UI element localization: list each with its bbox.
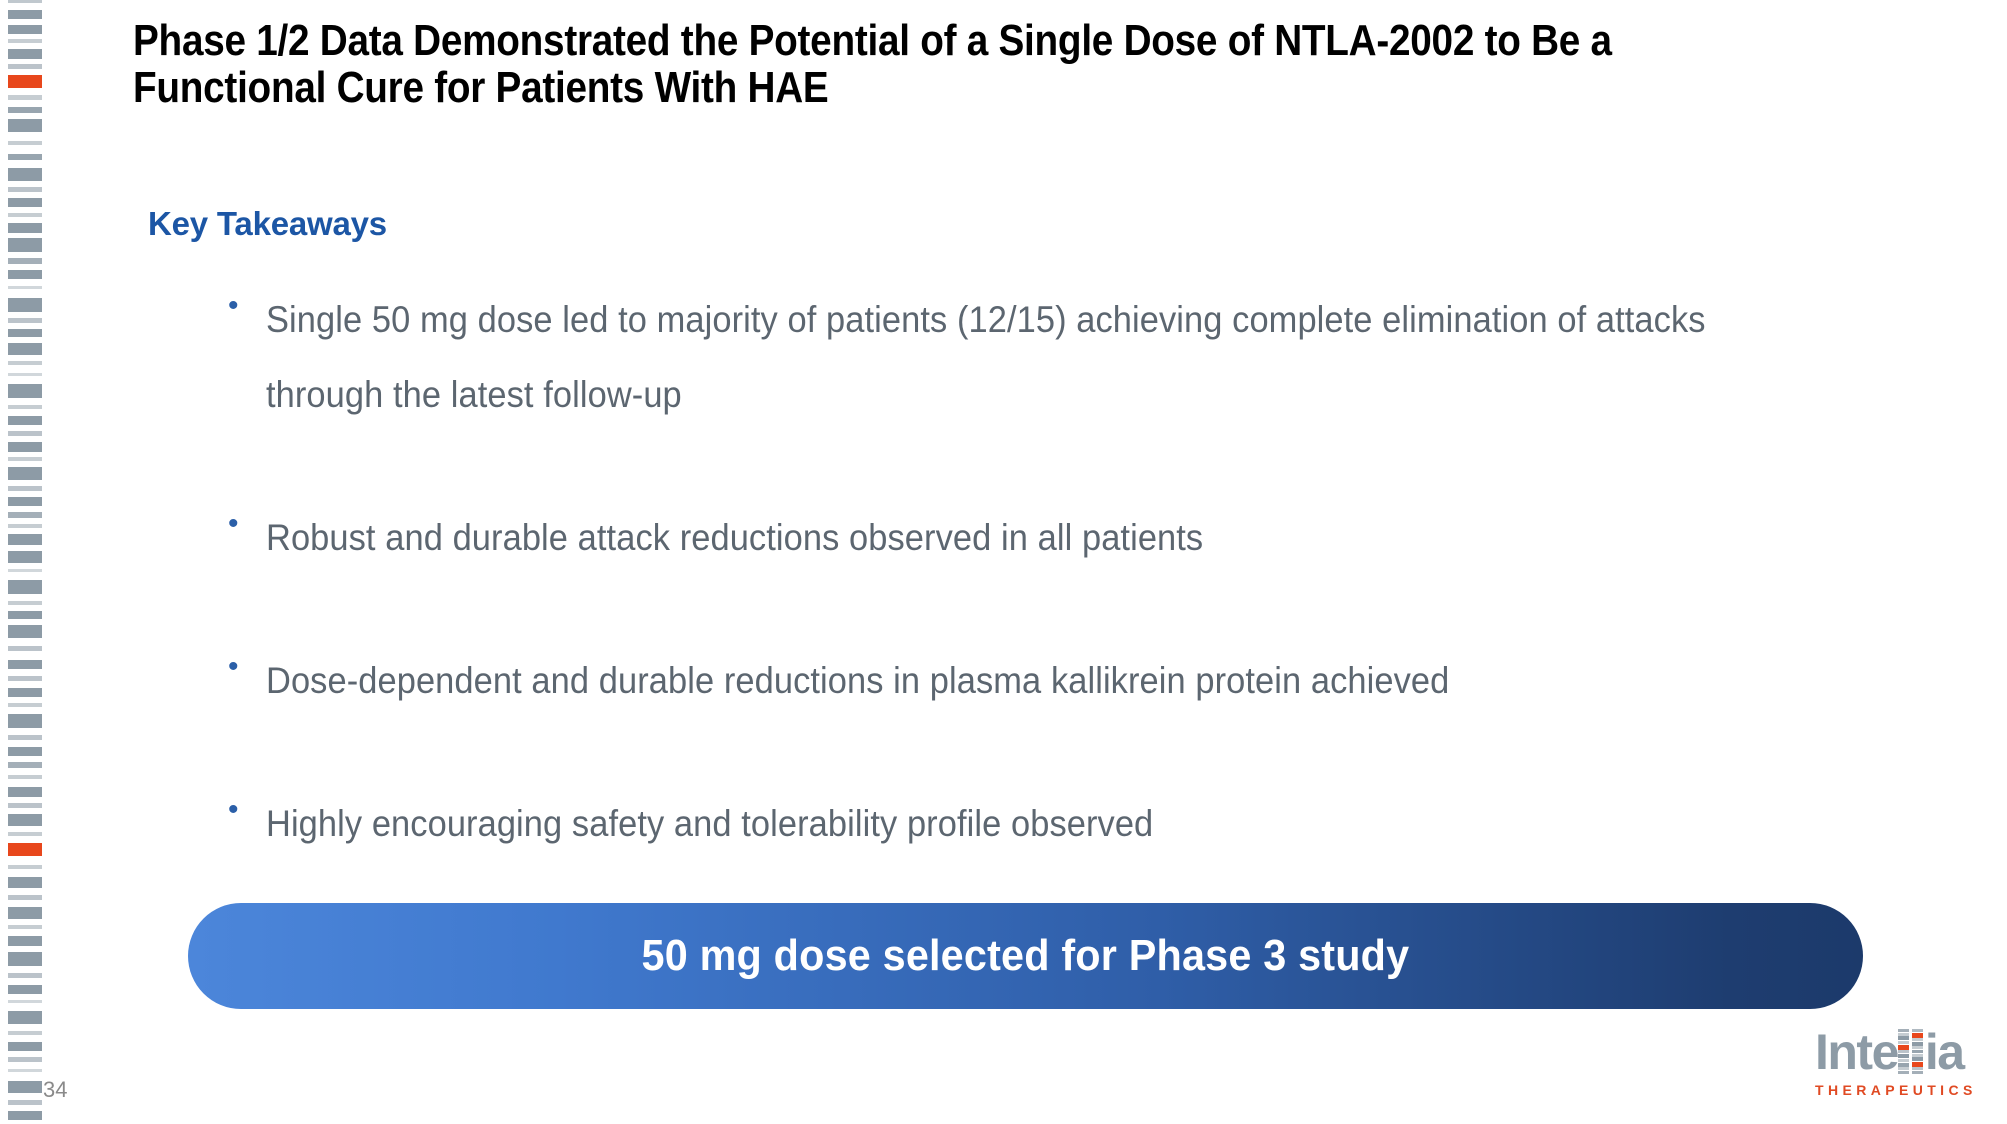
intellia-logo: Inte ia THERAPEUTICS <box>1815 1027 1980 1105</box>
list-item: •Robust and durable attack reductions ob… <box>222 500 1942 575</box>
barcode-bar <box>8 660 42 669</box>
logo-barcode-bar <box>1898 1054 1909 1058</box>
barcode-bar <box>8 524 42 528</box>
barcode-bar <box>8 1057 42 1062</box>
barcode-bar <box>8 64 42 69</box>
barcode-bar <box>8 676 42 681</box>
conclusion-banner-label: 50 mg dose selected for Phase 3 study <box>642 931 1410 981</box>
barcode-bar <box>8 1042 42 1051</box>
barcode-bar <box>8 119 42 132</box>
logo-barcode-bar <box>1912 1038 1923 1041</box>
barcode-bar <box>8 814 42 826</box>
barcode-bar <box>8 405 42 409</box>
barcode-bar <box>8 688 42 697</box>
barcode-bar <box>8 373 42 376</box>
barcode-bar <box>8 431 42 436</box>
barcode-bar <box>8 551 42 563</box>
slide-canvas: Phase 1/2 Data Demonstrated the Potentia… <box>0 0 2007 1124</box>
barcode-bar <box>8 775 42 779</box>
list-item-label: Highly encouraging safety and tolerabili… <box>266 786 1825 861</box>
barcode-bar <box>8 223 42 233</box>
barcode-bar <box>8 895 42 900</box>
logo-barcode-bar <box>1912 1050 1923 1053</box>
barcode-bar <box>8 762 42 768</box>
barcode-bar <box>8 75 42 88</box>
logo-barcode-bar <box>1898 1041 1909 1044</box>
barcode-bar <box>8 25 42 34</box>
list-item-label: Single 50 mg dose led to majority of pat… <box>266 282 1825 432</box>
logo-barcode-bar <box>1912 1029 1923 1032</box>
barcode-bar <box>8 416 42 425</box>
barcode-bar <box>8 973 42 978</box>
logo-wordmark-right: ia <box>1925 1027 1964 1077</box>
logo-barcode-bar <box>1898 1059 1909 1062</box>
barcode-bar <box>8 238 42 252</box>
list-item: •Single 50 mg dose led to majority of pa… <box>222 282 1942 432</box>
barcode-bar <box>8 95 42 100</box>
logo-barcode-icon-1 <box>1898 1029 1909 1074</box>
barcode-bar <box>8 703 42 707</box>
logo-barcode-bar <box>1898 1063 1909 1067</box>
barcode-bar <box>8 865 42 869</box>
key-takeaways-list: •Single 50 mg dose led to majority of pa… <box>222 282 1942 929</box>
barcode-bar <box>8 512 42 518</box>
logo-wordmark: Inte ia <box>1815 1027 1980 1079</box>
logo-barcode-bar <box>1912 1042 1923 1046</box>
barcode-bar <box>8 1081 42 1093</box>
logo-barcode-bar <box>1912 1057 1923 1061</box>
barcode-bar <box>8 329 42 337</box>
left-barcode-decoration <box>8 0 42 1066</box>
barcode-bar <box>8 803 42 808</box>
logo-barcode-icon-2 <box>1912 1029 1923 1074</box>
barcode-bar <box>8 258 42 264</box>
logo-barcode-bar <box>1912 1046 1923 1049</box>
list-item: •Dose-dependent and durable reductions i… <box>222 643 1942 718</box>
barcode-bar <box>8 907 42 919</box>
barcode-bar <box>8 646 42 651</box>
barcode-bar <box>8 107 42 113</box>
logo-barcode-bar <box>1912 1062 1923 1067</box>
logo-barcode-bar <box>1898 1029 1909 1032</box>
logo-barcode-bar <box>1898 1071 1909 1074</box>
barcode-bar <box>8 925 42 929</box>
barcode-bar <box>8 580 42 594</box>
barcode-bar <box>8 601 42 605</box>
barcode-bar <box>8 787 42 797</box>
barcode-bar <box>8 534 42 545</box>
barcode-bar <box>8 1100 42 1105</box>
logo-barcode-bar <box>1898 1067 1909 1070</box>
barcode-bar <box>8 442 42 452</box>
logo-wordmark-left: Inte <box>1815 1027 1898 1077</box>
barcode-bar <box>8 187 42 192</box>
barcode-bar <box>8 49 42 59</box>
barcode-bar <box>8 361 42 365</box>
barcode-bar <box>8 625 42 638</box>
barcode-bar <box>8 270 42 279</box>
barcode-bar <box>8 154 42 160</box>
barcode-bar <box>8 747 42 756</box>
bullet-dot-icon: • <box>222 786 266 834</box>
barcode-bar <box>8 343 42 355</box>
bullet-dot-icon: • <box>222 643 266 691</box>
barcode-bar <box>8 1031 42 1035</box>
barcode-bar <box>8 832 42 836</box>
barcode-bar <box>8 467 42 480</box>
barcode-bar <box>8 877 42 888</box>
bullet-dot-icon: • <box>222 282 266 330</box>
logo-barcode-bar <box>1898 1050 1909 1053</box>
barcode-bar <box>8 1069 42 1072</box>
barcode-bar <box>8 384 42 398</box>
barcode-bar <box>8 569 42 572</box>
list-item-label: Dose-dependent and durable reductions in… <box>266 643 1825 718</box>
barcode-bar <box>8 10 42 19</box>
barcode-bar <box>8 286 42 289</box>
barcode-bar <box>8 1011 42 1024</box>
conclusion-banner: 50 mg dose selected for Phase 3 study <box>188 903 1863 1009</box>
barcode-bar <box>8 714 42 728</box>
barcode-bar <box>8 298 42 312</box>
barcode-bar <box>8 1111 42 1120</box>
logo-barcode-bar <box>1912 1054 1923 1057</box>
list-item-label: Robust and durable attack reductions obs… <box>266 500 1825 575</box>
barcode-bar <box>8 457 42 461</box>
logo-barcode-bar <box>1898 1045 1909 1050</box>
barcode-bar <box>8 1000 42 1003</box>
barcode-bar <box>8 0 42 3</box>
page-title: Phase 1/2 Data Demonstrated the Potentia… <box>133 18 1682 111</box>
list-item: •Highly encouraging safety and tolerabil… <box>222 786 1942 861</box>
barcode-bar <box>8 936 42 946</box>
barcode-bar <box>8 611 42 619</box>
logo-barcode-bar <box>1912 1067 1923 1070</box>
barcode-bar <box>8 952 42 966</box>
logo-barcode-bar <box>1912 1071 1923 1074</box>
logo-barcode-bar <box>1912 1033 1923 1038</box>
barcode-bar <box>8 486 42 491</box>
barcode-bar <box>8 198 42 207</box>
barcode-bar <box>8 985 42 994</box>
section-heading-key-takeaways: Key Takeaways <box>148 205 387 243</box>
barcode-bar <box>8 141 42 145</box>
logo-tagline: THERAPEUTICS <box>1815 1082 1980 1098</box>
page-number: 34 <box>43 1077 67 1103</box>
logo-barcode-bar <box>1898 1036 1909 1040</box>
barcode-bar <box>8 213 42 217</box>
barcode-bar <box>8 318 42 323</box>
barcode-bar <box>8 735 42 740</box>
barcode-bar <box>8 168 42 181</box>
barcode-bar <box>8 497 42 506</box>
barcode-bar <box>8 843 42 856</box>
barcode-bar <box>8 39 42 43</box>
bullet-dot-icon: • <box>222 500 266 548</box>
logo-barcode-bar <box>1898 1033 1909 1036</box>
